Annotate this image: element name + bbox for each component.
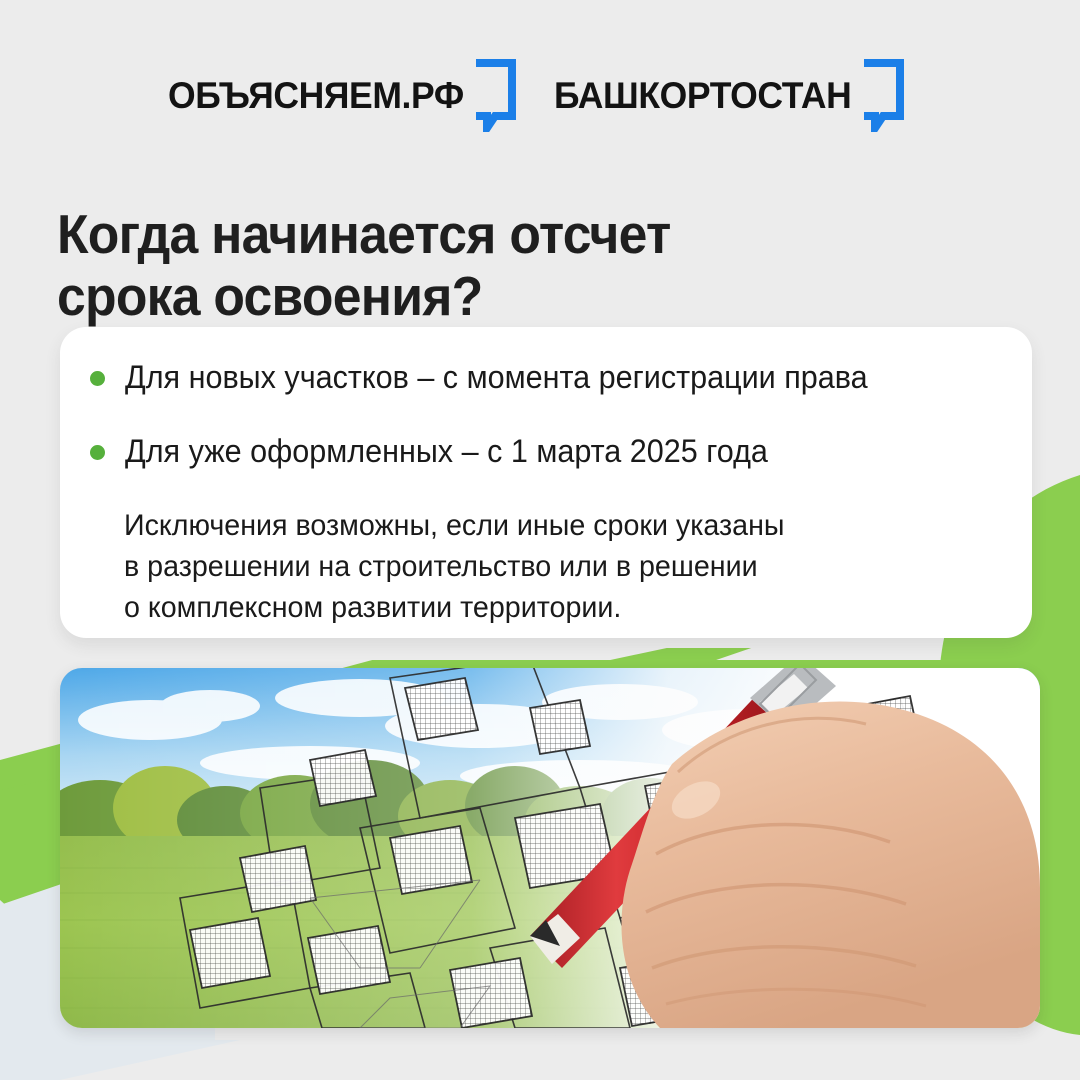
bullet-dot-icon	[90, 445, 105, 460]
hero-photo-illustration	[60, 668, 1040, 1028]
logo-objyasnyaem-label: ОБЪЯСНЯЕМ.РФ	[168, 77, 464, 114]
logo-bashkortostan[interactable]: БАШКОРТОСТАН	[554, 58, 912, 132]
hero-photo	[60, 668, 1040, 1028]
bullet-list: Для новых участков – с момента регистрац…	[90, 357, 988, 471]
page-title-line-1: Когда начинается отсчет	[57, 203, 865, 265]
list-item-label: Для уже оформленных – с 1 марта 2025 год…	[125, 431, 768, 471]
exceptions-note-line-3: о комплексном развитии территории.	[124, 587, 949, 628]
brand-header: ОБЪЯСНЯЕМ.РФ БАШКОРТОСТАН	[0, 58, 1080, 132]
page-title: Когда начинается отсчет срока освоения?	[57, 203, 865, 327]
speech-bubble-bracket-icon	[472, 58, 518, 132]
content-card: Для новых участков – с момента регистрац…	[60, 327, 1032, 638]
exceptions-note-line-1: Исключения возможны, если иные сроки ука…	[124, 505, 949, 546]
logo-bashkortostan-label: БАШКОРТОСТАН	[554, 77, 851, 114]
bullet-dot-icon	[90, 371, 105, 386]
bottom-left-pale	[0, 1040, 240, 1080]
bottom-strip	[0, 1040, 1080, 1080]
list-item: Для новых участков – с момента регистрац…	[90, 357, 988, 397]
list-item: Для уже оформленных – с 1 марта 2025 год…	[90, 431, 988, 471]
page-title-line-2: срока освоения?	[57, 265, 865, 327]
list-item-label: Для новых участков – с момента регистрац…	[125, 357, 868, 397]
exceptions-note-line-2: в разрешении на строительство или в реше…	[124, 546, 949, 587]
speech-bubble-bracket-icon-2	[860, 58, 906, 132]
exceptions-note: Исключения возможны, если иные сроки ука…	[124, 505, 949, 628]
logo-objyasnyaem[interactable]: ОБЪЯСНЯЕМ.РФ	[168, 58, 524, 132]
infographic-poster: ОБЪЯСНЯЕМ.РФ БАШКОРТОСТАН Когда начинает…	[0, 0, 1080, 1080]
